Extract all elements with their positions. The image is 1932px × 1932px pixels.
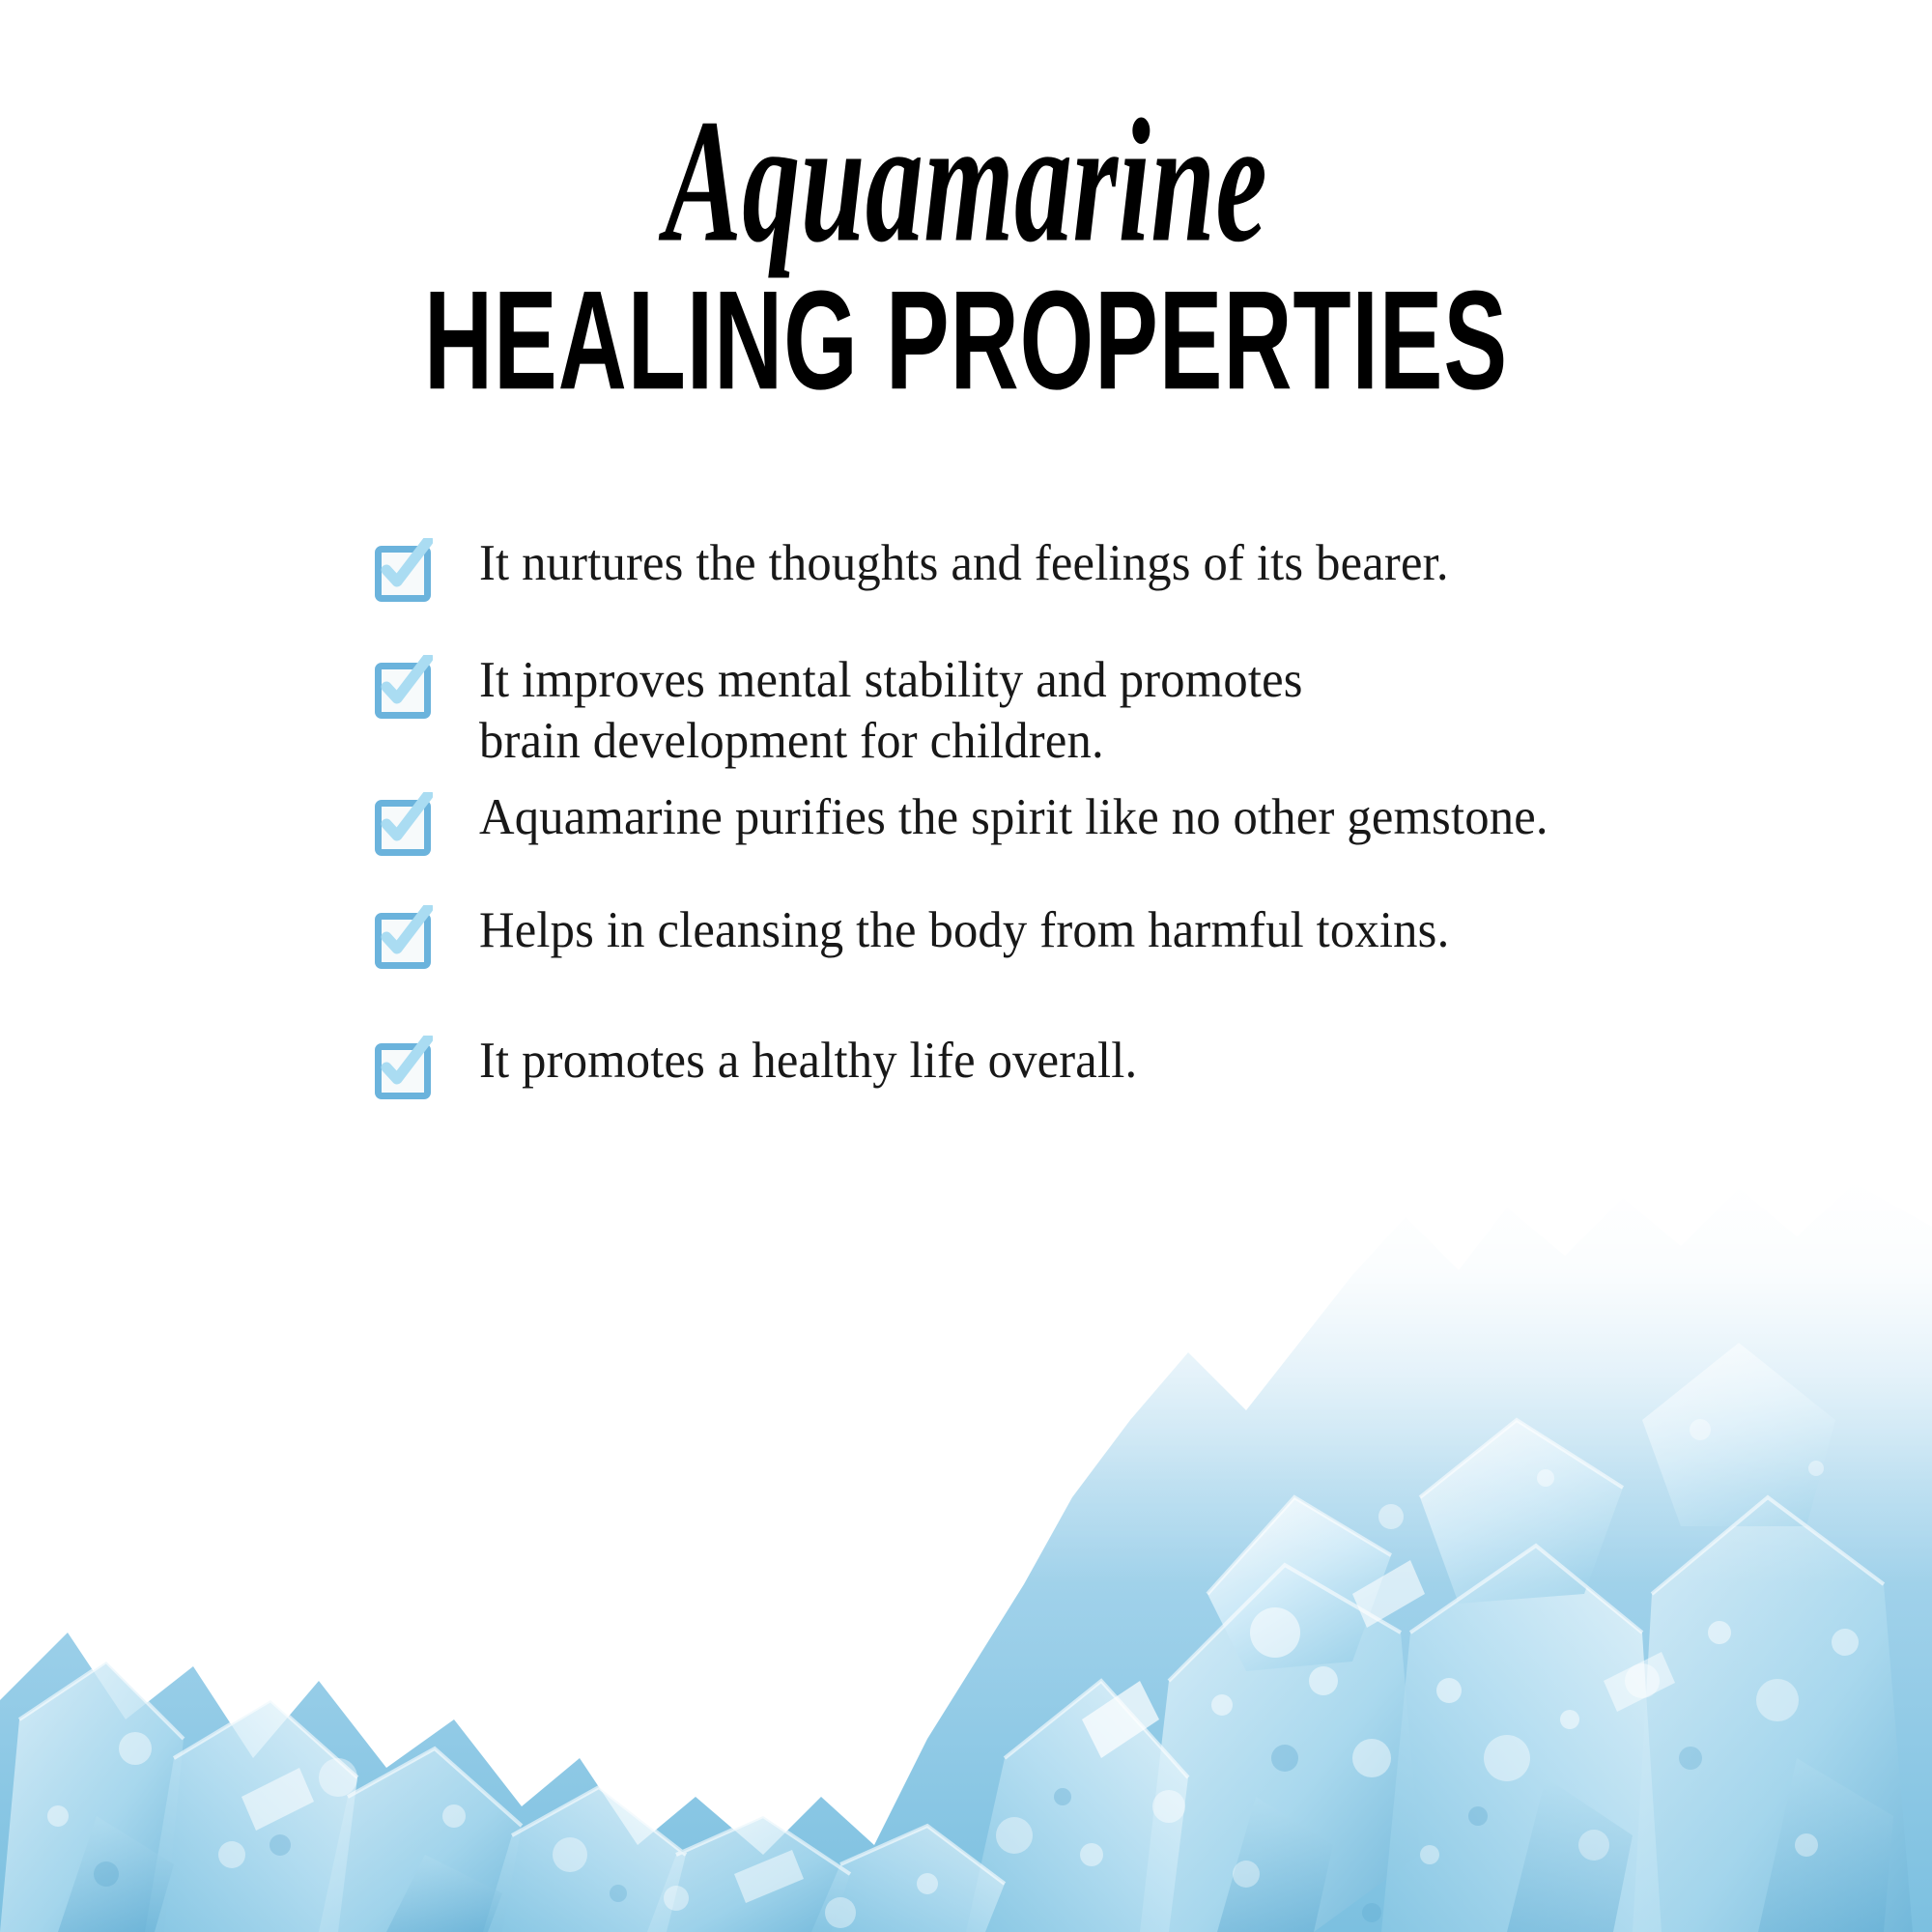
list-item: It nurtures the thoughts and feelings of… (373, 533, 1861, 600)
checked-checkbox-icon[interactable] (373, 657, 433, 717)
ice-facet (1207, 1497, 1391, 1671)
header: Aquamarine HEALING PROPERTIES (0, 0, 1932, 379)
list-item-label: It promotes a healthy life overall. (479, 1031, 1137, 1092)
healing-properties-list: It nurtures the thoughts and feelings of… (373, 533, 1861, 1097)
ice-shadow (1758, 1758, 1893, 1932)
ice-illustration (0, 1179, 1932, 1932)
ice-cubes-photo (0, 1179, 1932, 1932)
page-subtitle: HEALING PROPERTIES (116, 270, 1816, 412)
ice-facet (811, 1826, 1005, 1932)
ice-facet (966, 1681, 1188, 1932)
ice-facet (1140, 1565, 1420, 1932)
list-item-label: It improves mental stability and promote… (479, 650, 1303, 772)
checkbox-square (375, 800, 431, 856)
ice-facet (1420, 1420, 1623, 1604)
list-item-label: Helps in cleansing the body from harmful… (479, 900, 1449, 961)
checked-checkbox-icon[interactable] (373, 1037, 433, 1097)
poster-canvas: Aquamarine HEALING PROPERTIES It nurture… (0, 0, 1932, 1932)
ice-facet (647, 1816, 850, 1932)
ice-base-mass (0, 1183, 1932, 1932)
ice-white-fade (0, 1179, 1932, 1584)
ice-facet (483, 1787, 686, 1932)
ice-facet (0, 1662, 184, 1932)
list-item: It promotes a healthy life overall. (373, 1031, 1861, 1097)
ice-edges (19, 1420, 1884, 1884)
checkbox-square (375, 663, 431, 719)
ice-bubbles-dark (94, 1745, 1702, 1922)
checked-checkbox-icon[interactable] (373, 907, 433, 967)
ice-highlight (1082, 1681, 1159, 1758)
list-item: Helps in cleansing the body from harmful… (373, 900, 1861, 967)
checkbox-square (375, 546, 431, 602)
ice-facet (319, 1748, 522, 1932)
ice-bubbles (47, 1419, 1859, 1928)
list-item-label: Aquamarine purifies the spirit like no o… (479, 787, 1548, 848)
ice-shadow (386, 1855, 502, 1932)
ice-facet (145, 1700, 357, 1932)
ice-facet (1642, 1343, 1835, 1526)
page-title: Aquamarine (193, 93, 1739, 270)
ice-highlight (241, 1768, 314, 1831)
checked-checkbox-icon[interactable] (373, 540, 433, 600)
ice-highlight (1352, 1560, 1425, 1628)
list-item: It improves mental stability and promote… (373, 650, 1861, 772)
list-item-label: It nurtures the thoughts and feelings of… (479, 533, 1449, 594)
ice-highlight (734, 1850, 804, 1903)
ice-shadow (1217, 1797, 1333, 1932)
list-item: Aquamarine purifies the spirit like no o… (373, 787, 1861, 854)
ice-highlight (1604, 1652, 1675, 1712)
ice-facet (1381, 1546, 1662, 1932)
checked-checkbox-icon[interactable] (373, 794, 433, 854)
checkbox-square (375, 913, 431, 969)
checkbox-square (375, 1043, 431, 1099)
ice-facet (1633, 1497, 1913, 1932)
ice-shadow (58, 1816, 174, 1932)
ice-shadow (1507, 1777, 1633, 1932)
